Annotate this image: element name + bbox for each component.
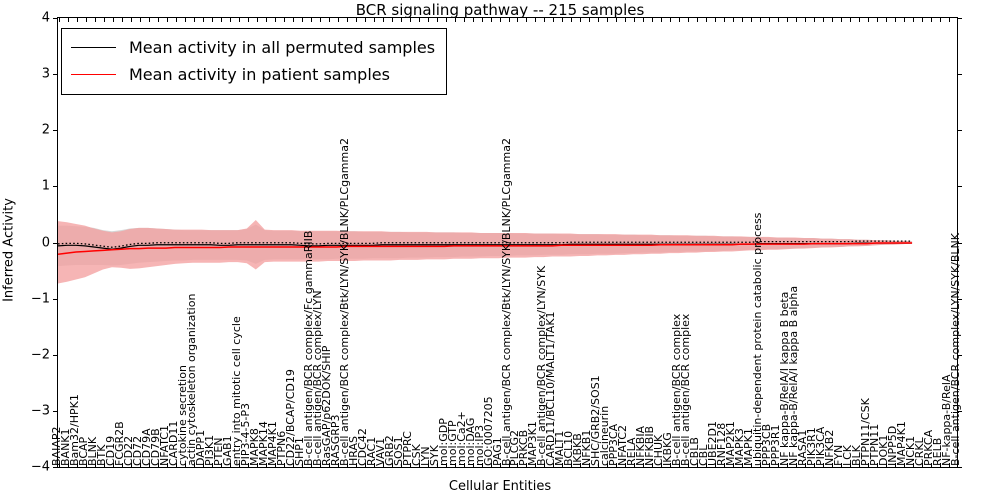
x-axis-tick-mark [868, 18, 869, 22]
x-axis-tick-mark [679, 463, 680, 467]
x-axis-tick-mark [95, 463, 96, 467]
y-axis-tick-label: 0 [10, 235, 50, 250]
y-axis-tick-label: 1 [10, 179, 50, 194]
x-axis-tick-mark [158, 18, 159, 22]
x-axis-tick-mark [266, 18, 267, 22]
x-axis-tick-mark [724, 463, 725, 467]
x-axis-tick-mark [428, 463, 429, 467]
x-axis-tick-mark [940, 18, 941, 22]
x-axis-tick-mark [742, 463, 743, 467]
x-axis-tick-mark [598, 18, 599, 22]
x-axis-tick-mark [122, 18, 123, 22]
x-axis-tick-mark [104, 463, 105, 467]
x-axis-tick-mark [652, 18, 653, 22]
x-axis-tick-mark [356, 463, 357, 467]
x-axis-tick-mark [275, 18, 276, 22]
x-axis-tick-mark [913, 18, 914, 22]
x-axis-tick-mark [221, 18, 222, 22]
x-axis-tick-mark [284, 463, 285, 467]
y-axis-tick-label: −2 [10, 347, 50, 362]
x-axis-tick-mark [491, 18, 492, 22]
legend-item-permuted: Mean activity in all permuted samples [71, 34, 435, 61]
x-axis-tick-mark [464, 463, 465, 467]
x-axis-tick-mark [598, 463, 599, 467]
x-axis-tick-mark [517, 463, 518, 467]
x-axis-tick-mark [446, 463, 447, 467]
x-axis-tick-mark [329, 18, 330, 22]
y-axis-tick-mark [958, 18, 962, 19]
x-axis-tick-mark [59, 18, 60, 22]
x-axis-tick-mark [284, 18, 285, 22]
x-axis-tick-mark [86, 463, 87, 467]
legend-swatch-patient [71, 74, 116, 75]
x-axis-tick-mark [787, 463, 788, 467]
x-axis-tick-mark [248, 18, 249, 22]
x-axis-tick-mark [733, 463, 734, 467]
y-axis-tick-label: 3 [10, 67, 50, 82]
x-axis-tick-mark [86, 18, 87, 22]
x-axis-tick-mark [814, 463, 815, 467]
x-axis-tick-mark [562, 463, 563, 467]
x-axis-tick-mark [535, 463, 536, 467]
x-axis-tick-mark [823, 463, 824, 467]
y-axis-tick-label: −4 [10, 460, 50, 475]
x-axis-tick-mark [895, 18, 896, 22]
y-axis-tick-mark [958, 411, 962, 412]
x-axis-tick-mark [212, 463, 213, 467]
x-axis-tick-mark [59, 463, 60, 467]
x-axis-tick-mark [724, 18, 725, 22]
x-axis-tick-mark [535, 18, 536, 22]
x-axis-tick-mark [473, 18, 474, 22]
x-axis-tick-mark [886, 463, 887, 467]
x-axis-tick-mark [239, 463, 240, 467]
x-axis-tick-mark [688, 18, 689, 22]
x-axis-tick-mark [140, 463, 141, 467]
x-axis-tick-mark [113, 463, 114, 467]
x-axis-tick-mark [275, 463, 276, 467]
x-axis-tick-mark [949, 18, 950, 22]
x-axis-label: Cellular Entities [0, 479, 1000, 494]
x-axis-tick-mark [805, 18, 806, 22]
x-axis-tick-mark [796, 463, 797, 467]
x-axis-tick-mark [742, 18, 743, 22]
x-axis-tick-mark [895, 463, 896, 467]
x-axis-tick-mark [949, 463, 950, 467]
x-axis-tick-mark [940, 463, 941, 467]
x-axis-tick-mark [140, 18, 141, 22]
x-axis-tick-mark [401, 18, 402, 22]
x-axis-tick-mark [850, 18, 851, 22]
x-axis-tick-mark [212, 18, 213, 22]
legend-label-patient: Mean activity in patient samples [129, 65, 390, 84]
x-axis-tick-mark [823, 18, 824, 22]
x-axis-tick-mark [509, 463, 510, 467]
x-axis-tick-mark [320, 18, 321, 22]
x-axis-tick-mark [383, 463, 384, 467]
x-axis-tick-mark [778, 463, 779, 467]
y-axis-tick-mark [958, 299, 962, 300]
y-axis-tick-mark [958, 355, 962, 356]
x-axis-tick-mark [464, 18, 465, 22]
x-axis-tick-mark [571, 18, 572, 22]
x-axis-tick-mark [544, 463, 545, 467]
x-axis-tick-mark [643, 18, 644, 22]
x-axis-tick-mark [455, 463, 456, 467]
x-axis-tick-mark [634, 18, 635, 22]
x-axis-tick-mark [203, 463, 204, 467]
x-axis-tick-mark [176, 18, 177, 22]
x-axis-tick-mark [293, 18, 294, 22]
x-axis-tick-mark [419, 463, 420, 467]
x-axis-tick-mark [311, 463, 312, 467]
x-axis-tick-mark [302, 18, 303, 22]
x-axis-tick-mark [589, 18, 590, 22]
x-axis-tick-mark [787, 18, 788, 22]
y-axis-tick-label: −3 [10, 403, 50, 418]
x-axis-tick-mark [760, 463, 761, 467]
x-axis-tick-mark [500, 18, 501, 22]
y-axis-tick-mark [958, 467, 962, 468]
x-axis-tick-mark [679, 18, 680, 22]
x-axis-tick-mark [239, 18, 240, 22]
x-axis-tick-mark [886, 18, 887, 22]
x-axis-tick-mark [149, 18, 150, 22]
legend-label-permuted: Mean activity in all permuted samples [129, 38, 435, 57]
x-axis-tick-mark [661, 18, 662, 22]
x-axis-tick-mark [769, 463, 770, 467]
x-axis-tick-mark [509, 18, 510, 22]
x-axis-tick-mark [625, 18, 626, 22]
x-axis-tick-mark [104, 18, 105, 22]
x-axis-tick-mark [194, 18, 195, 22]
x-axis-tick-mark [356, 18, 357, 22]
x-axis-tick-mark [760, 18, 761, 22]
x-axis-tick-mark [77, 463, 78, 467]
x-axis-tick-mark [131, 18, 132, 22]
x-axis-tick-mark [805, 463, 806, 467]
x-axis-tick-mark [850, 463, 851, 467]
x-axis-tick-mark [131, 463, 132, 467]
x-axis-tick-mark [877, 18, 878, 22]
x-axis-tick-mark [706, 463, 707, 467]
x-axis-tick-mark [221, 463, 222, 467]
x-axis-tick-mark [715, 463, 716, 467]
x-axis-tick-mark [877, 463, 878, 467]
x-axis-tick-mark [230, 18, 231, 22]
x-axis-tick-mark [437, 18, 438, 22]
x-axis-tick-mark [580, 463, 581, 467]
x-axis-tick-mark [931, 18, 932, 22]
x-axis-tick-mark [769, 18, 770, 22]
x-axis-tick-mark [733, 18, 734, 22]
x-axis-tick-mark [868, 463, 869, 467]
x-axis-tick-mark [652, 463, 653, 467]
x-axis-tick-mark [778, 18, 779, 22]
patient-confidence-band [58, 220, 912, 283]
x-axis-tick-mark [302, 463, 303, 467]
x-axis-tick-mark [841, 463, 842, 467]
x-axis-tick-mark [625, 463, 626, 467]
x-axis-tick-mark [392, 18, 393, 22]
x-axis-tick-mark [670, 18, 671, 22]
x-axis-tick-mark [922, 463, 923, 467]
x-axis-tick-mark [419, 18, 420, 22]
x-axis-tick-mark [526, 463, 527, 467]
x-axis-tick-mark [526, 18, 527, 22]
x-axis-tick-mark [841, 18, 842, 22]
x-axis-tick-mark [248, 463, 249, 467]
x-axis-tick-mark [428, 18, 429, 22]
x-axis-tick-mark [616, 463, 617, 467]
x-axis-tick-mark [517, 18, 518, 22]
x-axis-tick-mark [562, 18, 563, 22]
x-axis-tick-mark [338, 18, 339, 22]
x-axis-tick-mark [913, 463, 914, 467]
x-axis-tick-mark [706, 18, 707, 22]
x-axis-tick-mark [589, 463, 590, 467]
x-axis-tick-mark [347, 463, 348, 467]
y-axis-tick-mark [958, 74, 962, 75]
x-axis-tick-mark [607, 463, 608, 467]
x-axis-tick-mark [392, 463, 393, 467]
y-axis-tick-label: 2 [10, 123, 50, 138]
x-axis-tick-mark [68, 18, 69, 22]
x-axis-tick-mark [616, 18, 617, 22]
x-axis-tick-mark [922, 18, 923, 22]
x-axis-tick-mark [553, 18, 554, 22]
x-axis-tick-mark [437, 463, 438, 467]
legend-item-patient: Mean activity in patient samples [71, 61, 435, 88]
x-axis-tick-mark [715, 18, 716, 22]
x-axis-tick-mark [68, 463, 69, 467]
y-axis-tick-label: −1 [10, 291, 50, 306]
x-axis-tick-mark [410, 463, 411, 467]
x-axis-tick-mark [859, 18, 860, 22]
x-axis-tick-mark [500, 463, 501, 467]
x-axis-tick-mark [607, 18, 608, 22]
x-axis-tick-mark [257, 463, 258, 467]
x-axis-tick-mark [688, 463, 689, 467]
x-axis-tick-mark [266, 463, 267, 467]
y-axis-tick-mark [958, 130, 962, 131]
x-axis-tick-mark [634, 463, 635, 467]
x-axis-tick-mark [410, 18, 411, 22]
x-axis-tick-mark [329, 463, 330, 467]
x-axis-tick-mark [832, 18, 833, 22]
y-axis-tick-mark [958, 186, 962, 187]
x-axis-tick-mark [751, 463, 752, 467]
x-axis-tick-mark [176, 463, 177, 467]
x-axis-tick-mark [122, 463, 123, 467]
x-axis-tick-mark [293, 463, 294, 467]
legend-swatch-permuted [71, 47, 116, 48]
x-axis-tick-mark [859, 463, 860, 467]
x-axis-tick-mark [904, 463, 905, 467]
x-axis-tick-mark [185, 18, 186, 22]
x-axis-tick-mark [661, 463, 662, 467]
x-axis-tick-mark [832, 463, 833, 467]
x-axis-tick-mark [580, 18, 581, 22]
x-axis-tick-mark [544, 18, 545, 22]
x-axis-tick-mark [904, 18, 905, 22]
x-axis-tick-mark [553, 463, 554, 467]
x-axis-tick-mark [796, 18, 797, 22]
x-axis-tick-mark [338, 463, 339, 467]
patient-band-group [58, 220, 912, 283]
x-axis-tick-mark [482, 463, 483, 467]
x-axis-tick-mark [383, 18, 384, 22]
x-axis-tick-mark [365, 18, 366, 22]
y-axis-tick-label: 4 [10, 11, 50, 26]
x-axis-tick-mark [401, 463, 402, 467]
x-axis-tick-mark [194, 463, 195, 467]
x-axis-tick-mark [374, 18, 375, 22]
y-axis-tick-mark [958, 243, 962, 244]
x-axis-tick-mark [455, 18, 456, 22]
chart-legend: Mean activity in all permuted samples Me… [61, 28, 447, 95]
x-axis-tick-mark [95, 18, 96, 22]
x-axis-tick-mark [446, 18, 447, 22]
x-axis-tick-mark [643, 463, 644, 467]
x-axis-tick-mark [931, 463, 932, 467]
x-axis-tick-mark [320, 463, 321, 467]
x-axis-tick-mark [203, 18, 204, 22]
x-axis-tick-mark [571, 463, 572, 467]
x-axis-tick-mark [751, 18, 752, 22]
x-axis-tick-mark [697, 463, 698, 467]
x-axis-tick-mark [149, 463, 150, 467]
x-axis-tick-mark [113, 18, 114, 22]
x-axis-tick-mark [230, 463, 231, 467]
x-axis-tick-mark [482, 18, 483, 22]
x-axis-tick-mark [167, 463, 168, 467]
x-axis-tick-mark [167, 18, 168, 22]
x-axis-tick-mark [257, 18, 258, 22]
x-axis-tick-mark [670, 463, 671, 467]
x-axis-tick-mark [473, 463, 474, 467]
x-axis-tick-mark [185, 463, 186, 467]
x-axis-tick-mark [697, 18, 698, 22]
x-axis-tick-mark [347, 18, 348, 22]
x-axis-tick-mark [77, 18, 78, 22]
y-axis-label: Inferred Activity [2, 198, 17, 302]
chart-figure: BCR signaling pathway -- 215 samples Inf… [0, 0, 1000, 500]
x-axis-tick-mark [158, 463, 159, 467]
x-axis-tick-mark [365, 463, 366, 467]
x-axis-tick-mark [311, 18, 312, 22]
x-axis-tick-mark [814, 18, 815, 22]
x-axis-tick-mark [491, 463, 492, 467]
x-axis-tick-mark [374, 463, 375, 467]
